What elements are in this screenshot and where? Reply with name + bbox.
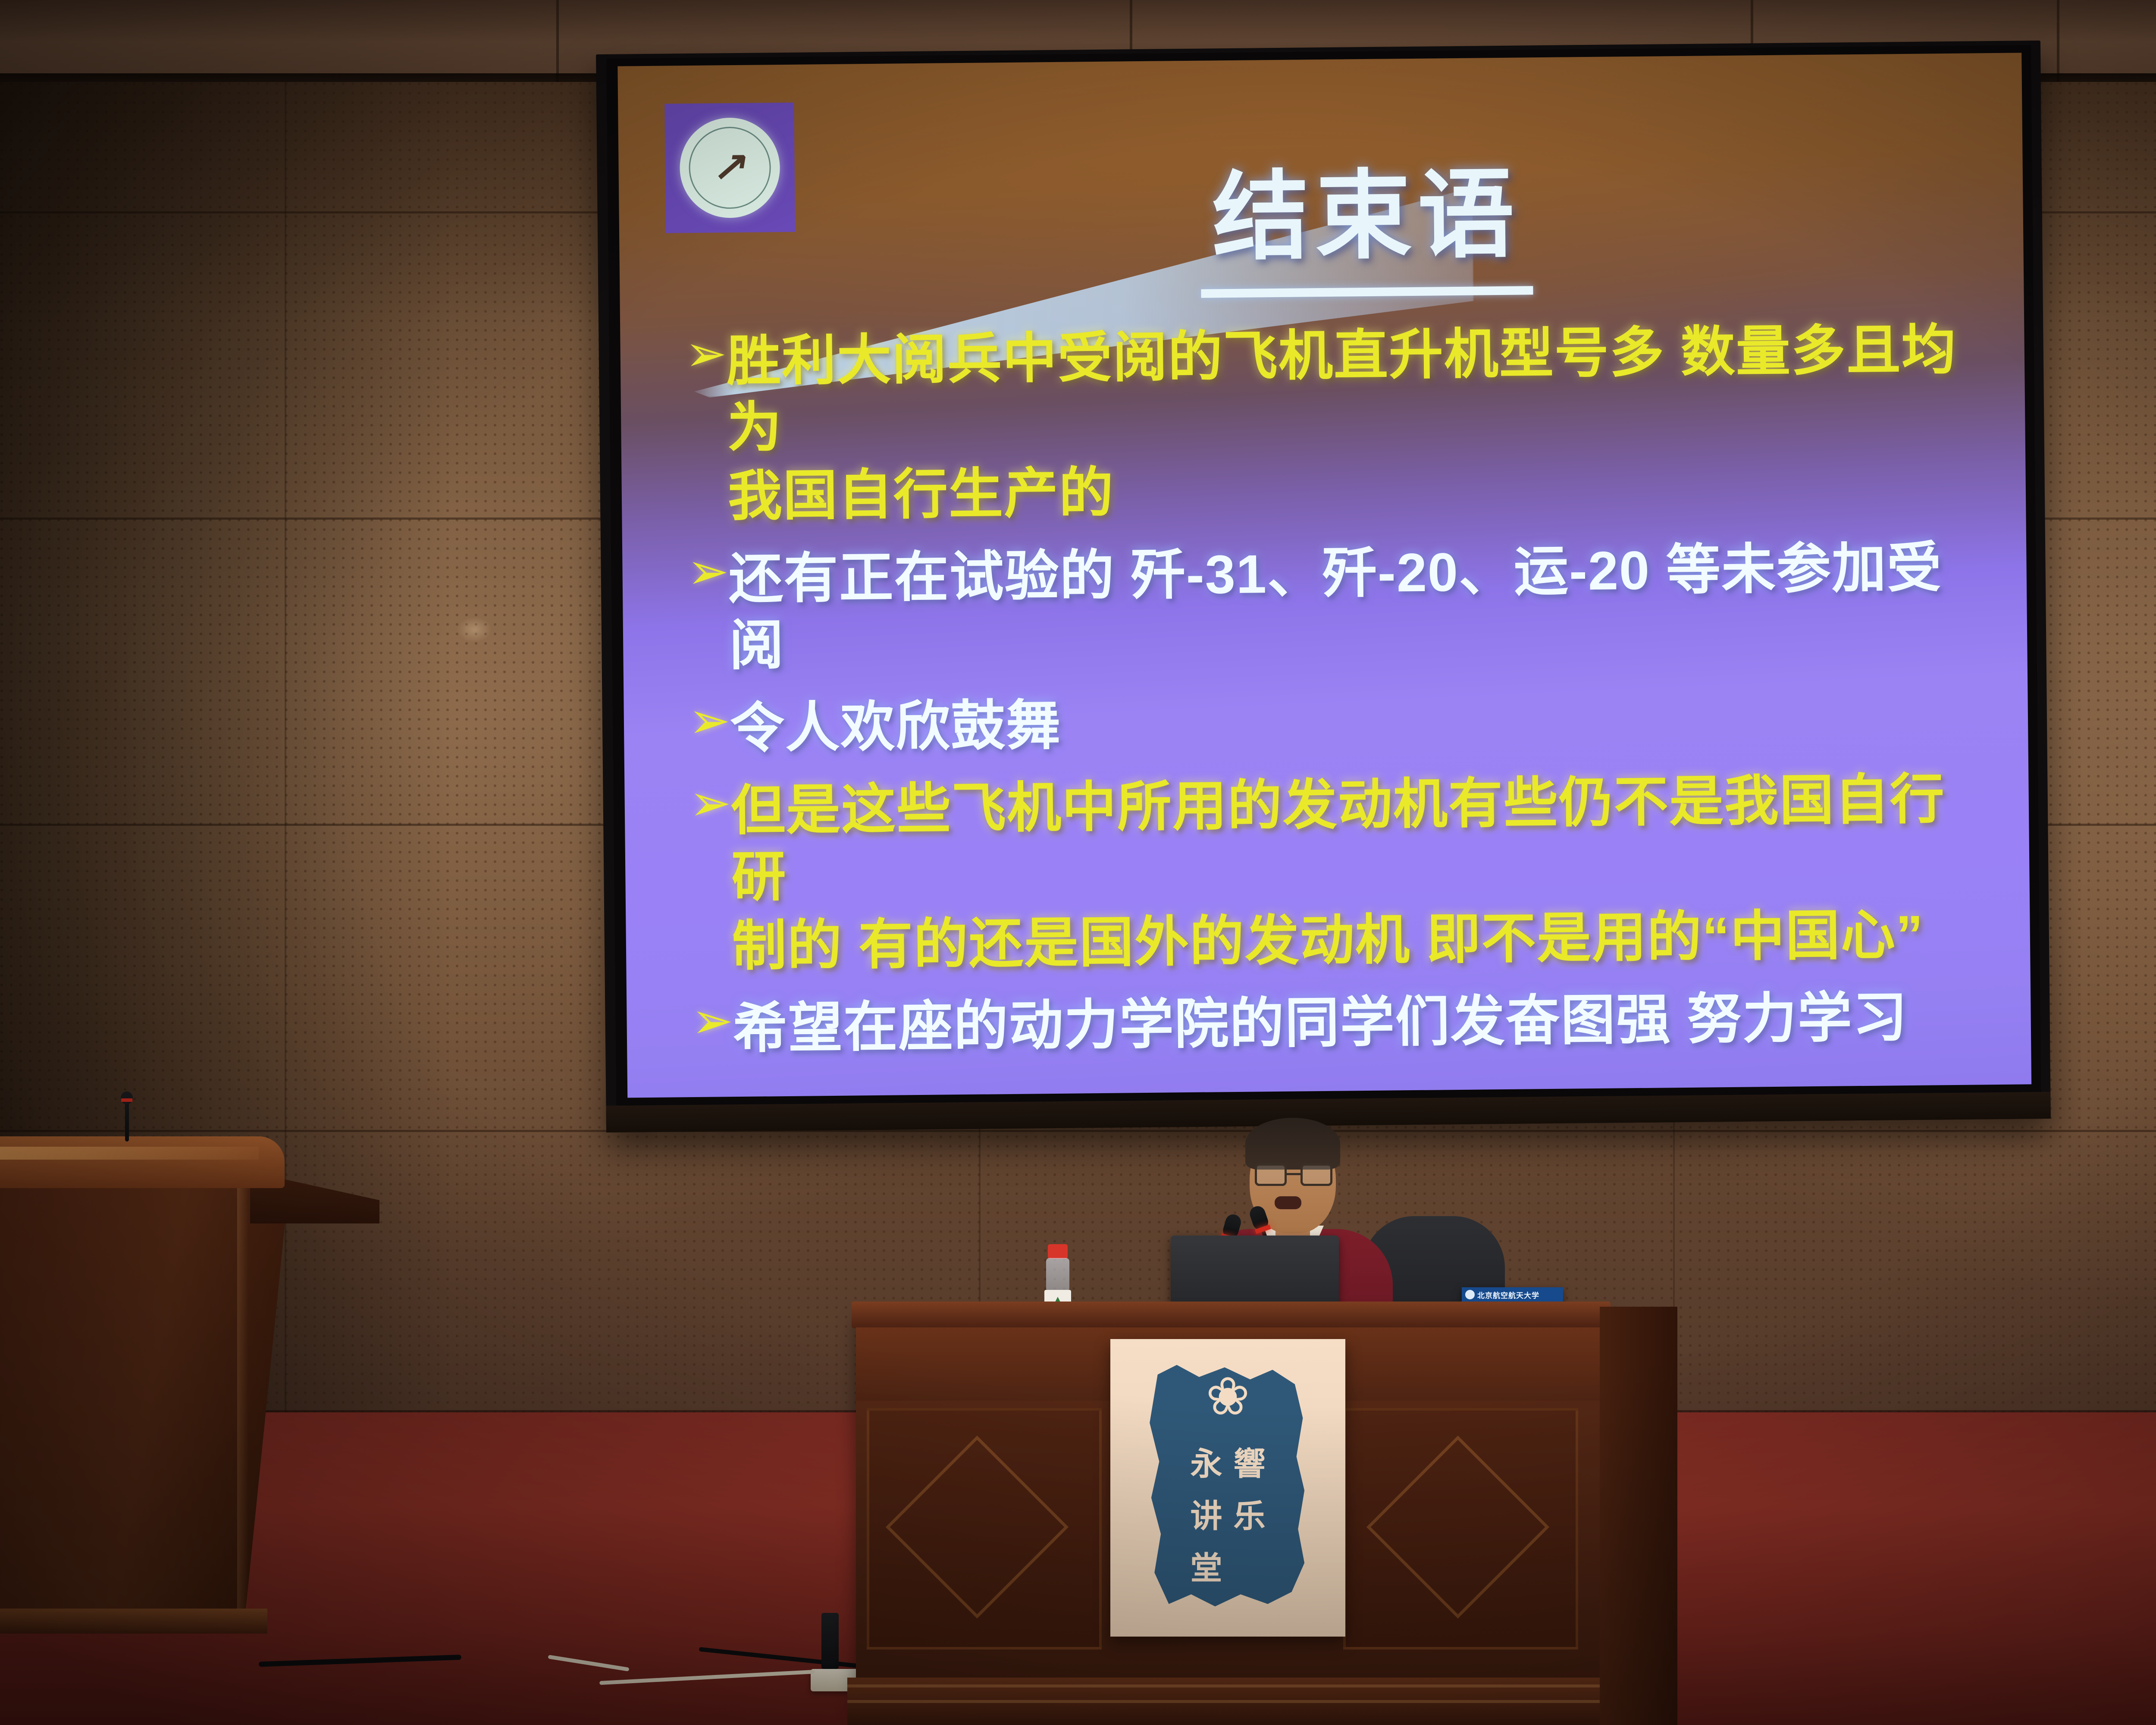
bullet-arrow-icon: ➢ xyxy=(687,546,729,596)
lecture-hall-photo: ↗ 结束语 ➢ 胜利大阅兵中受阅的飞机直升机型号多 数量多且均为 我国自行生产的… xyxy=(0,0,2156,1725)
bullet-arrow-icon: ➢ xyxy=(685,328,727,379)
desk-diamond-inlay xyxy=(1366,1436,1549,1618)
desk-panel-left xyxy=(867,1408,1102,1650)
slide-bullet-item: ➢ 还有正在试验的 歼-31、歼-20、运-20 等未参加受阅 xyxy=(687,534,1989,679)
banner-seal-characters: 永 讲 堂 響 乐 xyxy=(1110,1438,1345,1589)
nameplate-header: 北京航空航天大学 xyxy=(1462,1287,1563,1302)
slide-bullet-item: ➢ 令人欢欣鼓舞 xyxy=(688,683,1989,762)
bullet-arrow-icon: ➢ xyxy=(688,695,730,746)
mic-indicator-ring xyxy=(121,1098,132,1102)
lectern-highlight xyxy=(0,1147,259,1160)
projection-screen: ↗ 结束语 ➢ 胜利大阅兵中受阅的飞机直升机型号多 数量多且均为 我国自行生产的… xyxy=(596,41,2051,1132)
bottle-neck xyxy=(1046,1258,1069,1292)
lectern-microphone-icon xyxy=(125,1102,129,1142)
desk-diamond-inlay xyxy=(886,1436,1069,1618)
leaf-icon: ❀ xyxy=(1206,1370,1250,1423)
lectern-top-surface xyxy=(0,1136,285,1188)
banner-column-left: 永 讲 堂 xyxy=(1191,1438,1222,1589)
slide-title: 结束语 xyxy=(619,160,2024,273)
lens-left xyxy=(1255,1164,1287,1186)
presenter-mouth xyxy=(1275,1196,1301,1209)
eyeglasses-icon xyxy=(1255,1164,1332,1186)
nameplate-university: 北京航空航天大学 xyxy=(1477,1289,1539,1300)
projected-slide: ↗ 结束语 ➢ 胜利大阅兵中受阅的飞机直升机型号多 数量多且均为 我国自行生产的… xyxy=(617,53,2031,1098)
power-adapter xyxy=(821,1613,839,1669)
lectern xyxy=(0,1136,293,1682)
banner-column-right: 響 乐 xyxy=(1234,1438,1266,1589)
glasses-bridge xyxy=(1287,1173,1300,1175)
bullet-text-continuation: 我国自行生产的 xyxy=(686,452,1987,530)
bottle-cap xyxy=(1048,1244,1068,1259)
bullet-text: 胜利大阅兵中受阅的飞机直升机型号多 数量多且均为 xyxy=(726,316,1987,461)
lectern-body-edge xyxy=(237,1185,248,1625)
desk-side-face xyxy=(1600,1307,1677,1725)
banner-char: 乐 xyxy=(1234,1490,1266,1537)
bullet-arrow-icon: ➢ xyxy=(691,996,733,1046)
banner-char: 堂 xyxy=(1191,1543,1222,1589)
wall-scuff-mark xyxy=(457,617,492,643)
lectern-base-trim xyxy=(0,1609,267,1634)
desk-base-trim xyxy=(847,1678,1615,1725)
banner-char: 讲 xyxy=(1191,1490,1222,1537)
desk-top-surface xyxy=(852,1302,1611,1328)
podium-banner: ❀ 永 讲 堂 響 乐 xyxy=(1110,1339,1345,1637)
beihang-roundel-icon xyxy=(1465,1290,1475,1299)
mic-head xyxy=(121,1091,133,1104)
slide-bullet-item: ➢ 胜利大阅兵中受阅的飞机直升机型号多 数量多且均为 xyxy=(685,316,1987,461)
slide-bullet-list: ➢ 胜利大阅兵中受阅的飞机直升机型号多 数量多且均为 我国自行生产的 ➢ 还有正… xyxy=(685,316,1993,1098)
bullet-text: 但是这些飞机中所用的发动机有些仍不是我国自行研 xyxy=(730,766,1991,910)
bullet-text-continuation: 制的 有的还是国外的发动机 即不是用的“中国心” xyxy=(690,901,1991,980)
desk-panel-right xyxy=(1343,1408,1578,1650)
slide-bullet-item: ➢ 但是这些飞机中所用的发动机有些仍不是我国自行研 xyxy=(689,766,1991,911)
bullet-text: 还有正在试验的 歼-31、歼-20、运-20 等未参加受阅 xyxy=(728,534,1989,678)
mic-stem xyxy=(125,1102,129,1142)
bullet-text: 令人欢欣鼓舞 xyxy=(730,683,1989,762)
desk-base-line xyxy=(847,1684,1615,1687)
lens-right xyxy=(1300,1164,1332,1186)
presenter-hair xyxy=(1245,1118,1340,1170)
bullet-text: 希望在座的动力学院的同学们发奋图强 努力学习 xyxy=(733,984,1992,1062)
bullet-arrow-icon: ➢ xyxy=(689,778,731,828)
banner-char: 響 xyxy=(1234,1438,1266,1484)
slide-bullet-item: ➢ 希望在座的动力学院的同学们发奋图强 努力学习 xyxy=(691,984,1992,1063)
desk-base-line xyxy=(847,1700,1615,1703)
banner-char: 永 xyxy=(1191,1438,1222,1484)
